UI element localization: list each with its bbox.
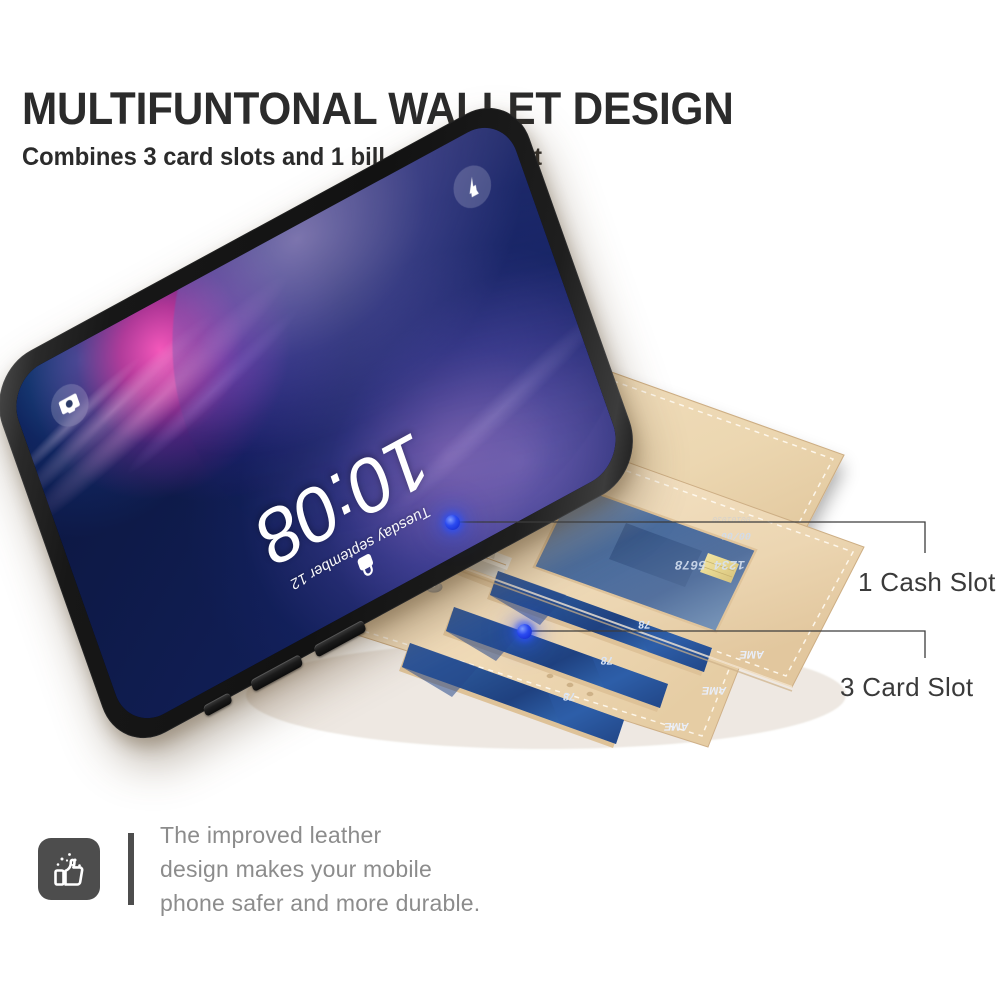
camera-icon[interactable] xyxy=(45,377,94,434)
footer-description: The improved leather design makes your m… xyxy=(160,818,480,920)
svg-text:78: 78 xyxy=(562,690,576,702)
flashlight-icon[interactable] xyxy=(448,158,497,215)
card-text: AME xyxy=(739,648,766,660)
svg-text:00101030: 00101030 xyxy=(711,514,751,523)
svg-text:78: 78 xyxy=(637,618,651,630)
card-text: AME xyxy=(701,684,728,696)
card-text: AME xyxy=(663,720,690,732)
svg-text:78: 78 xyxy=(600,654,614,666)
footer-divider xyxy=(128,833,134,905)
footer-line: design makes your mobile xyxy=(160,852,480,886)
product-photo: 1234 5678 00/00 00101030 xyxy=(0,195,1000,795)
thumbs-up-sparkle-icon xyxy=(38,838,100,900)
footer-line: The improved leather xyxy=(160,818,480,852)
footer-feature-block: The improved leather design makes your m… xyxy=(38,818,480,920)
footer-line: phone safer and more durable. xyxy=(160,886,480,920)
